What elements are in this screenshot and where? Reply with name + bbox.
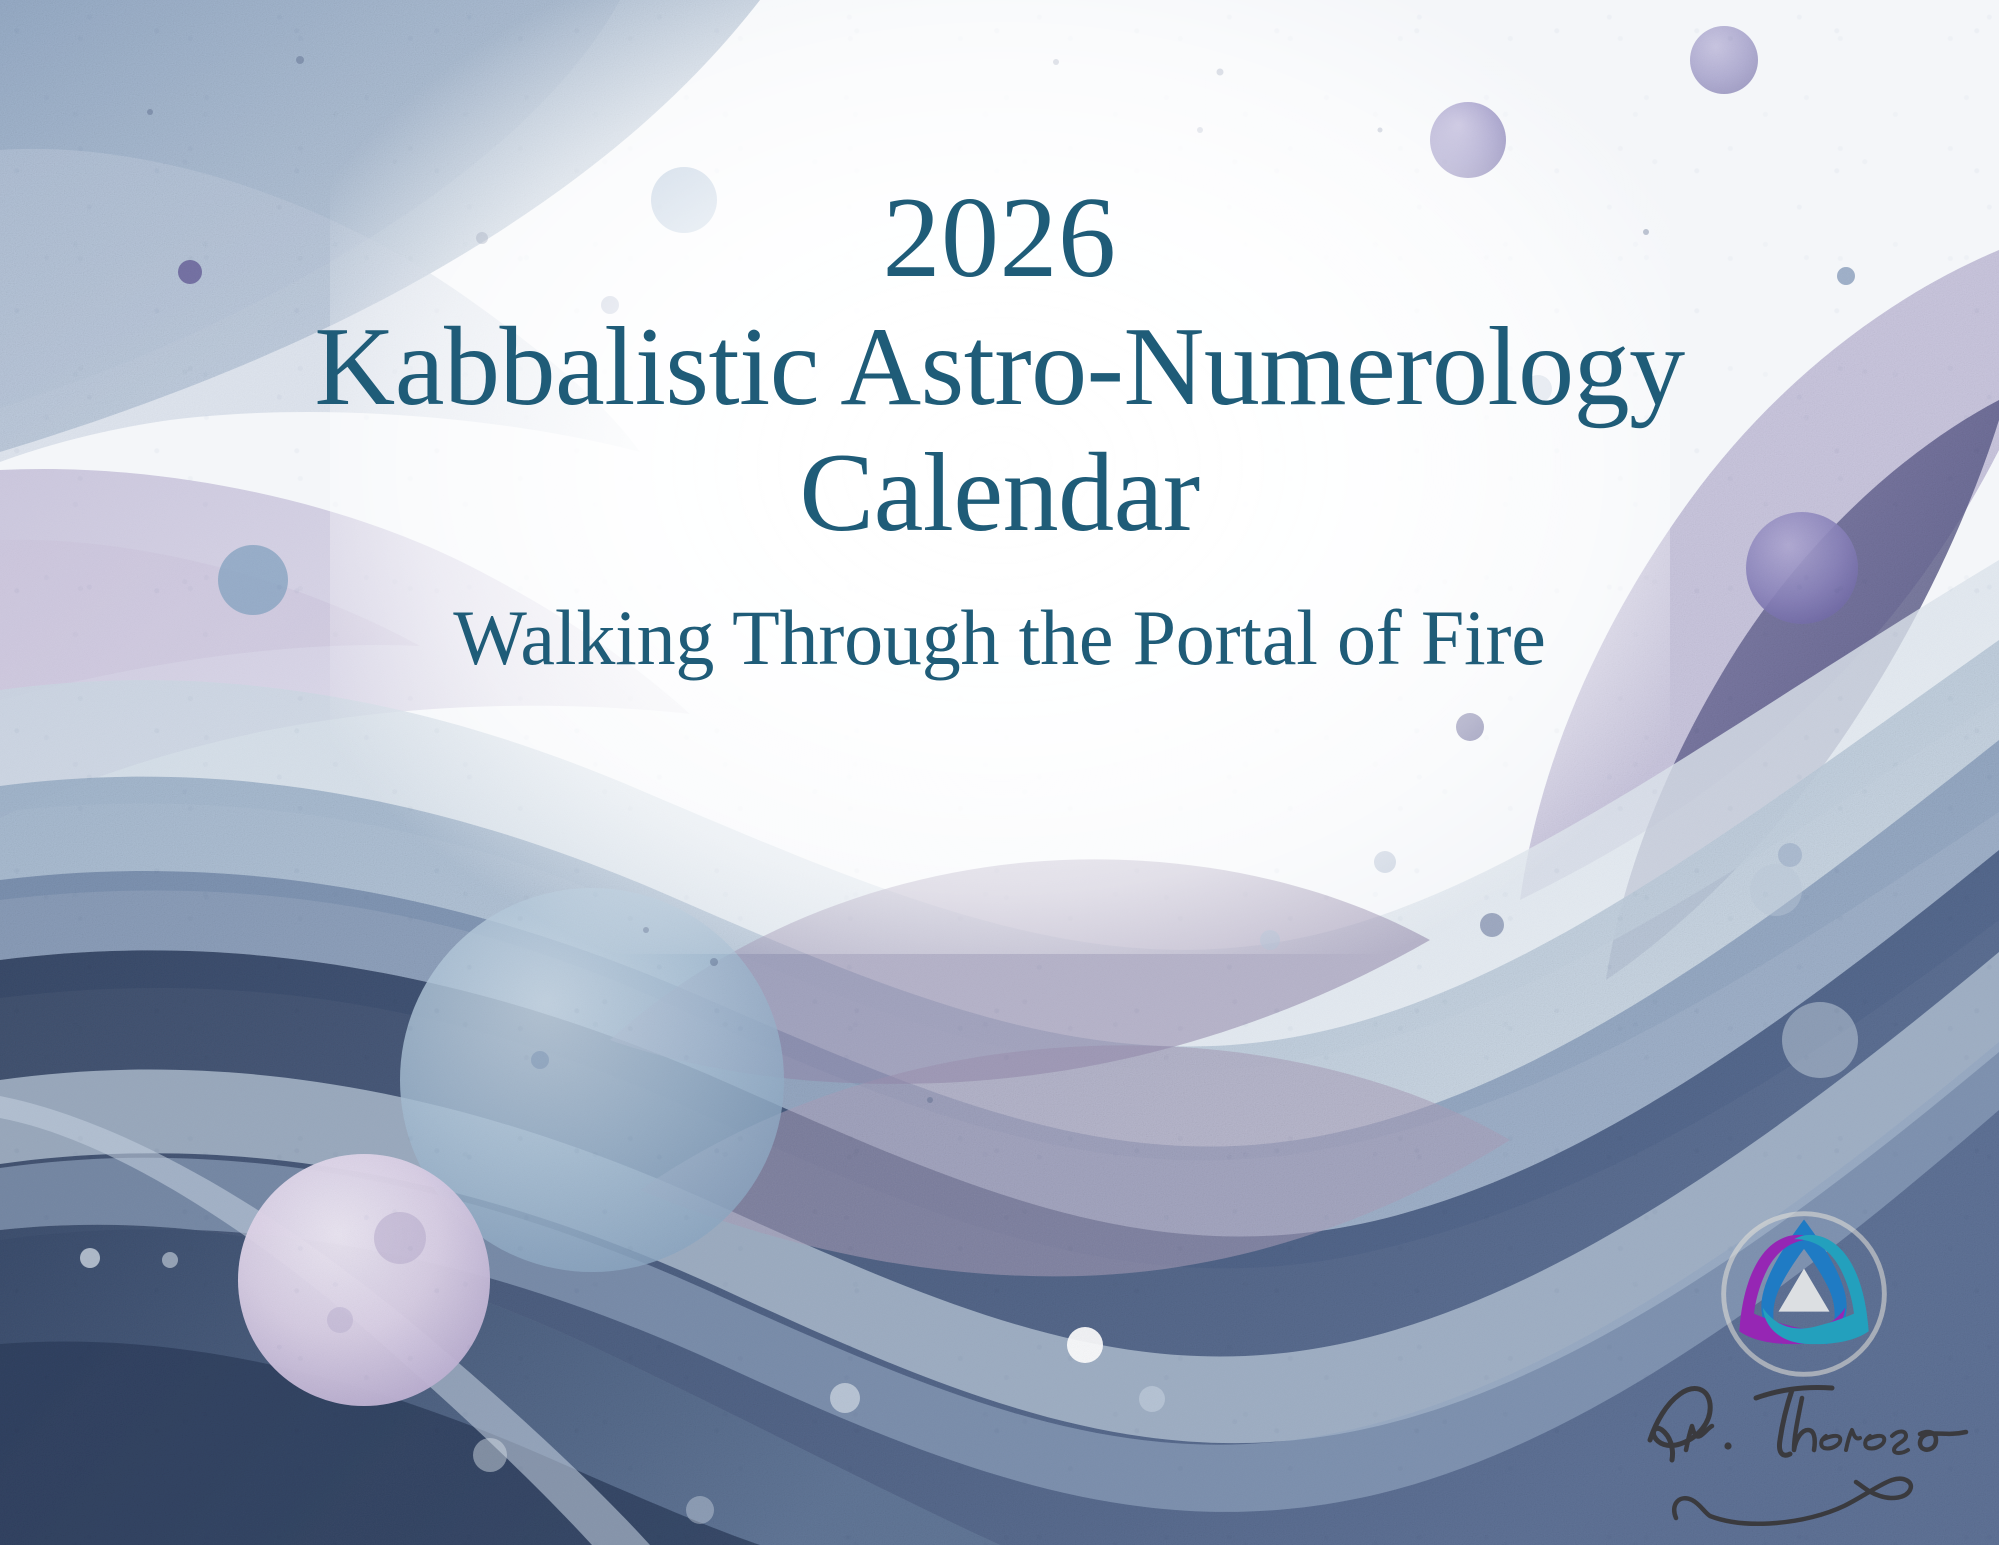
signature-text: Dr. Theresa bbox=[1636, 1378, 1710, 1382]
cover-year: 2026 bbox=[0, 176, 1999, 301]
cover-title-line-1: Kabbalistic Astro-Numerology bbox=[0, 305, 1999, 430]
cover-title-block: 2026 Kabbalistic Astro-Numerology Calend… bbox=[0, 176, 1999, 684]
calendar-cover: 2026 Kabbalistic Astro-Numerology Calend… bbox=[0, 0, 1999, 1545]
sphere-moon-lavender bbox=[238, 1154, 490, 1406]
sphere-purple-top bbox=[1430, 102, 1506, 178]
author-signature: Dr. Theresa bbox=[1636, 1378, 1982, 1530]
cover-subtitle: Walking Through the Portal of Fire bbox=[0, 592, 1999, 684]
triskelion-logo bbox=[1706, 1196, 1902, 1392]
cover-title-line-2: Calendar bbox=[0, 431, 1999, 556]
